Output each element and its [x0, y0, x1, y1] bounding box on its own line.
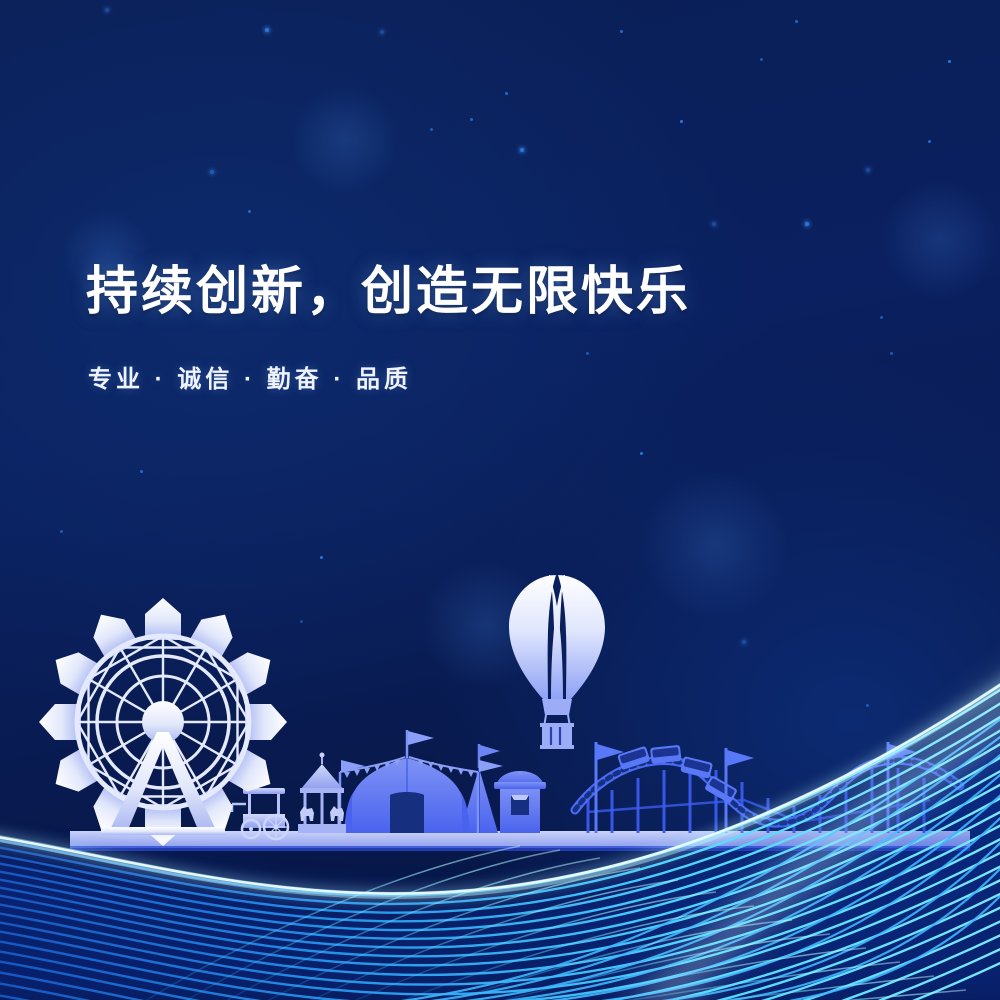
fiber-wave-graphic: [0, 0, 1000, 1000]
page-title: 持续创新，创造无限快乐: [86, 262, 906, 323]
page-subtitle: 专业 · 诚信 · 勤奋 · 品质: [88, 359, 906, 394]
hero-text-block: 持续创新，创造无限快乐 专业 · 诚信 · 勤奋 · 品质: [86, 262, 906, 394]
banner-canvas: 持续创新，创造无限快乐 专业 · 诚信 · 勤奋 · 品质: [0, 0, 1000, 1000]
